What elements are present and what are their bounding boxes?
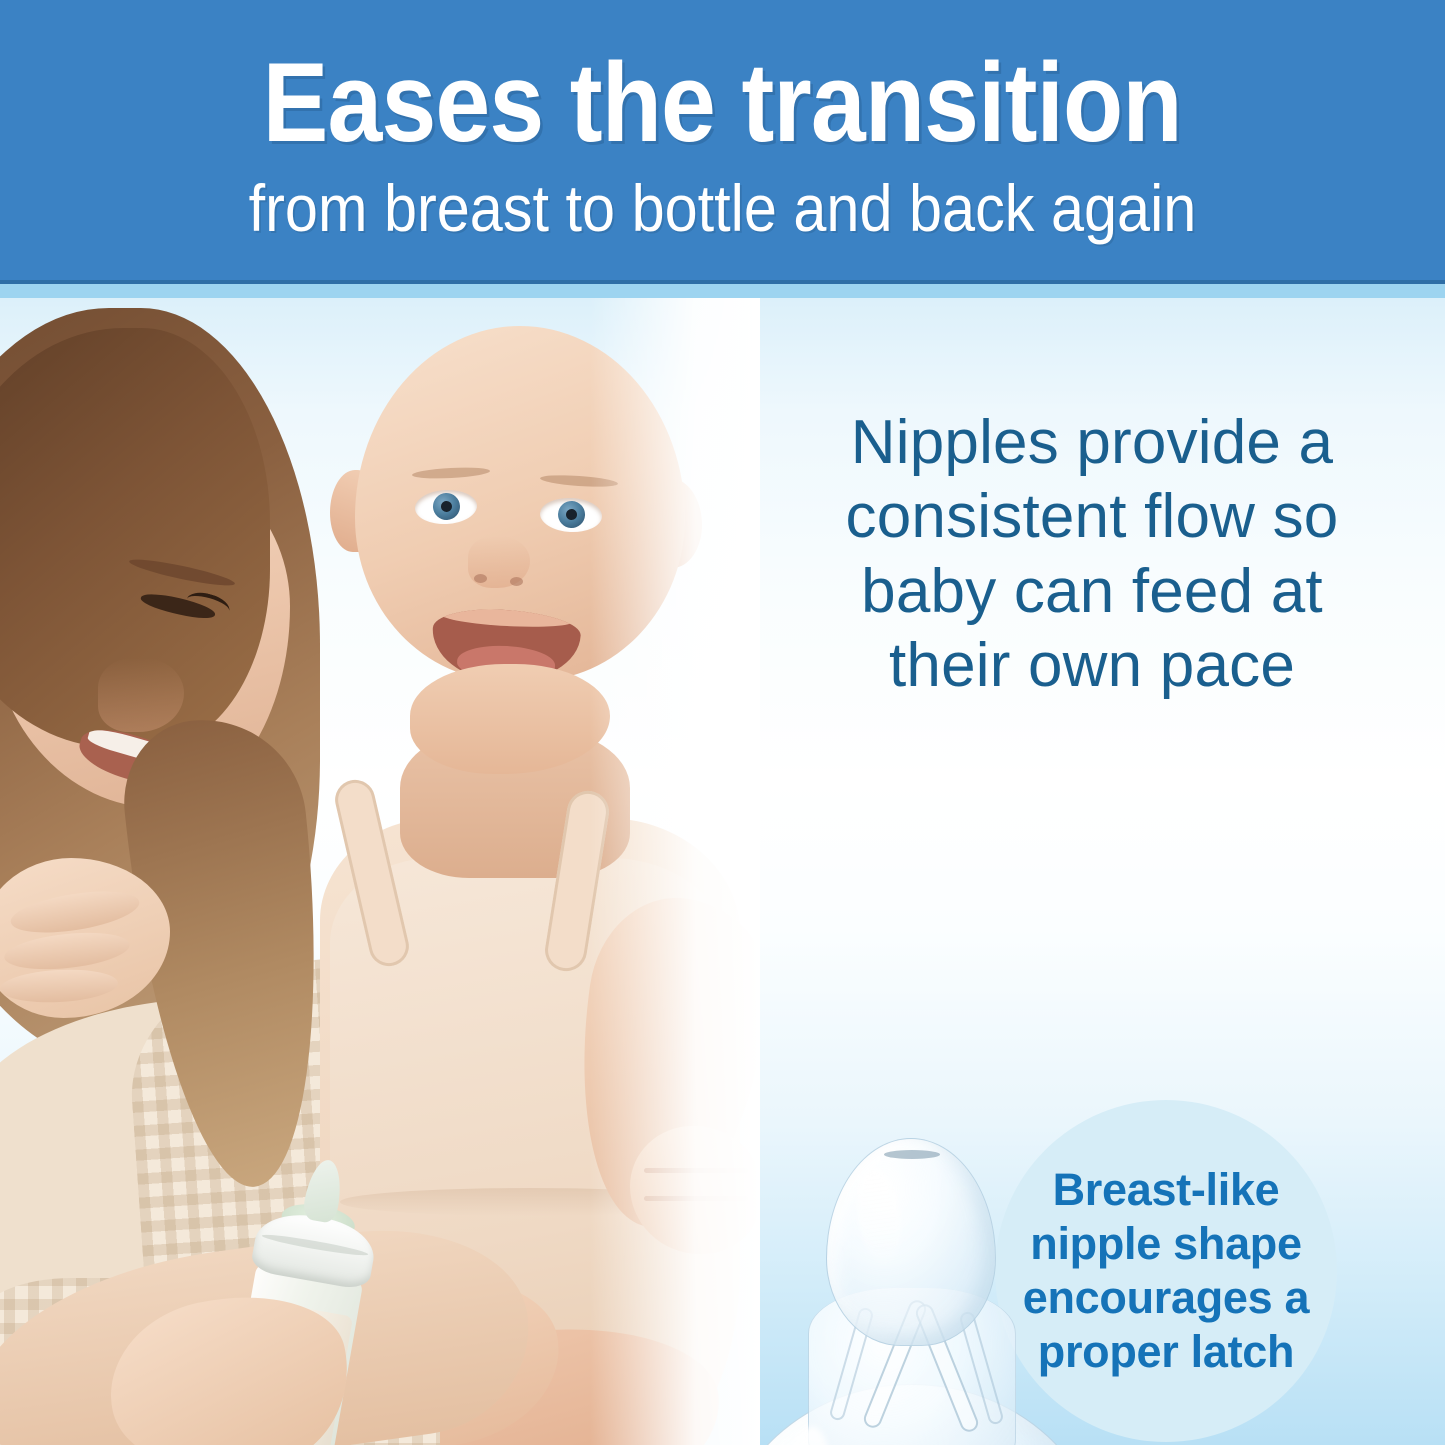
baby-iris-left [432,492,460,520]
nipple-tip [826,1138,996,1346]
body-copy-line-4: their own pace [762,629,1422,703]
header-band: Eases the transition from breast to bott… [0,0,1445,282]
subheadline: from breast to bottle and back again [249,175,1197,241]
baby-nostril-right [510,577,523,586]
product-nipple-image: 1 [648,1138,1208,1445]
nipple-tip-opening [884,1150,940,1159]
mother-and-baby-photo: BROWN'S Natural Flow [0,298,760,1445]
baby-nostril-left [474,574,487,583]
headline: Eases the transition [263,47,1182,159]
baby-iris-right [557,500,585,528]
body-copy-line-2: consistent flow so [762,480,1422,554]
product-infographic: Eases the transition from breast to bott… [0,0,1445,1445]
header-accent-strip [0,284,1445,298]
content-stage: BROWN'S Natural Flow Nipples provide a c… [0,298,1445,1445]
body-copy-line-3: baby can feed at [762,555,1422,629]
body-copy: Nipples provide a consistent flow so bab… [762,406,1422,704]
body-copy-line-1: Nipples provide a [762,406,1422,480]
